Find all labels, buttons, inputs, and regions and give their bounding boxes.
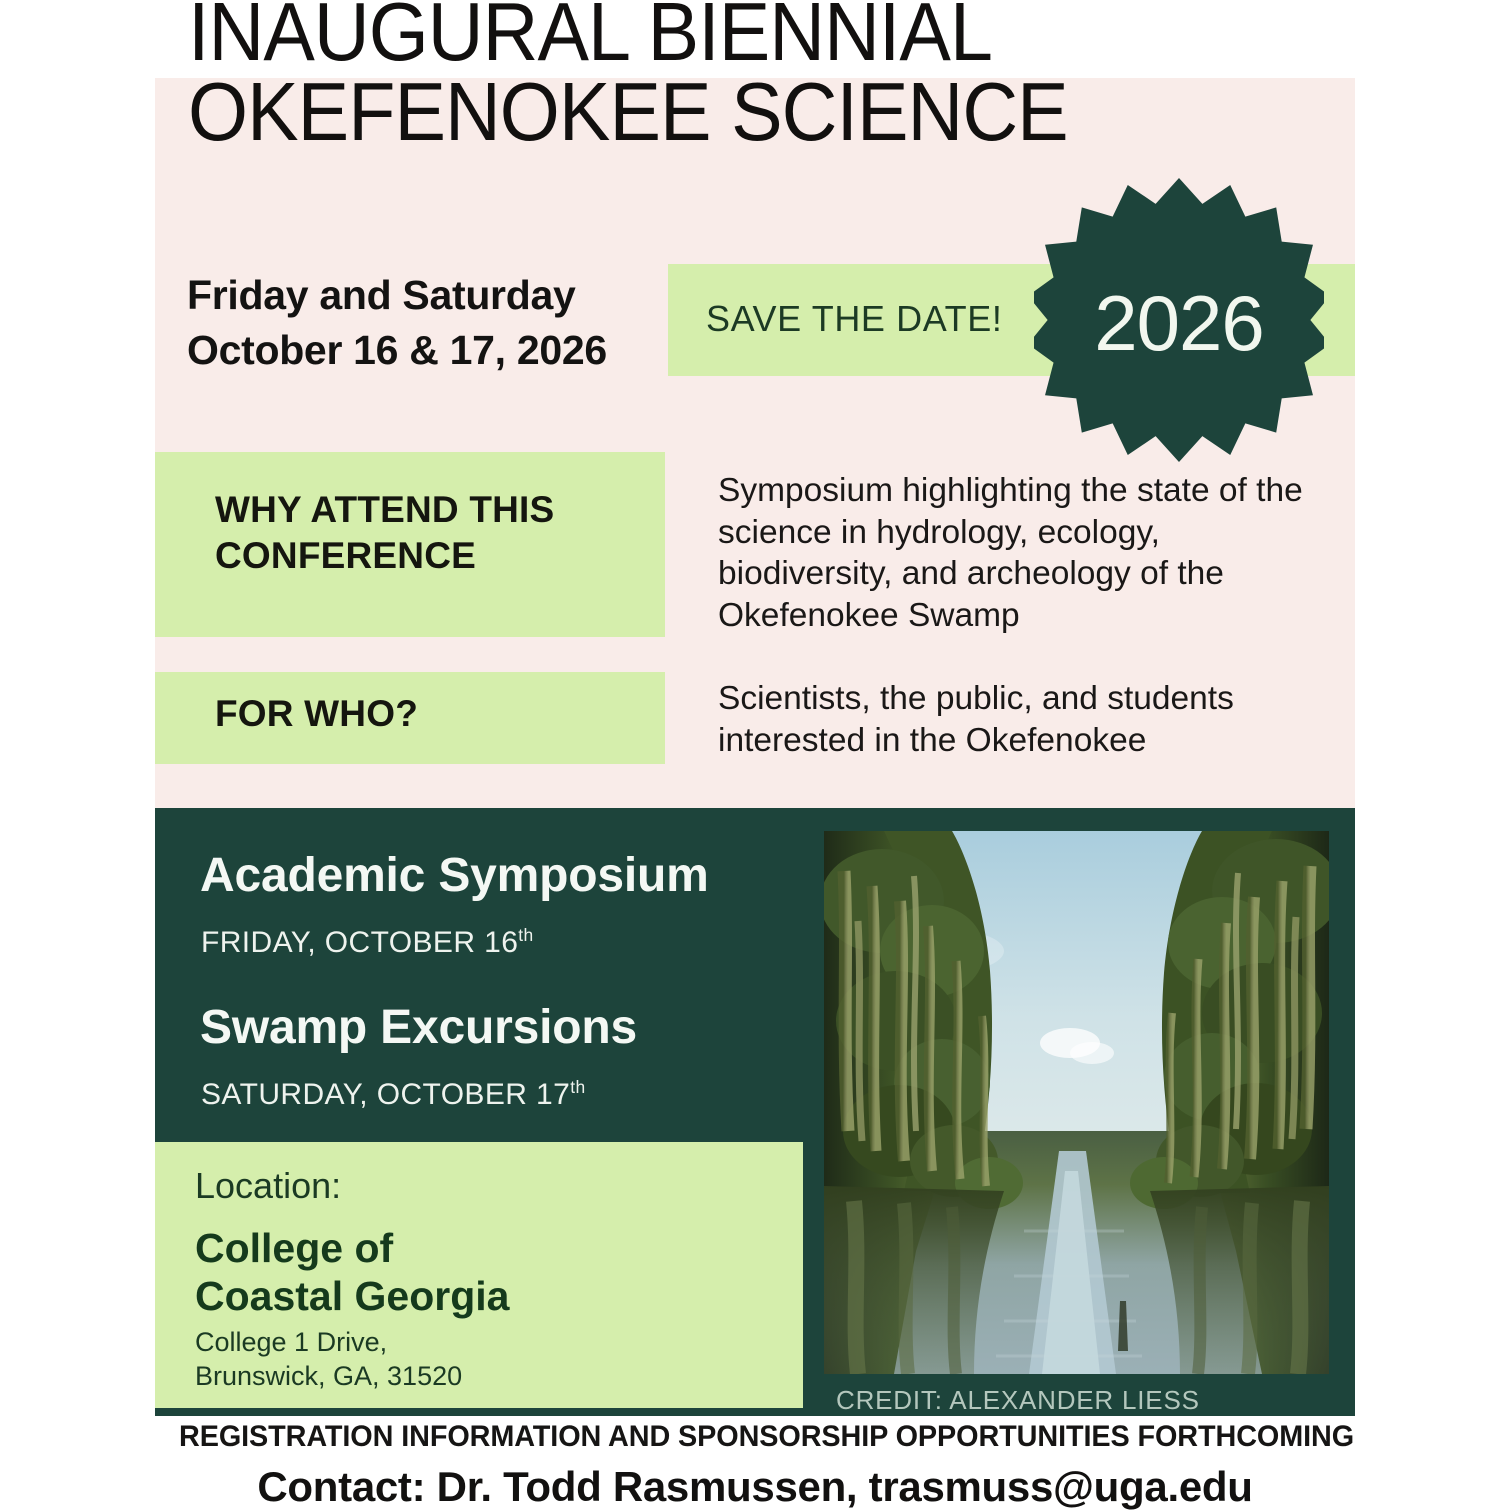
location-venue-line-1: College of [195,1225,509,1273]
footer-registration-note: REGISTRATION INFORMATION AND SPONSORSHIP… [179,1420,1331,1454]
location-venue-line-2: Coastal Georgia [195,1273,509,1321]
footer: REGISTRATION INFORMATION AND SPONSORSHIP… [155,1420,1355,1510]
save-the-date-label: SAVE THE DATE! [706,298,1002,340]
for-who-body: Scientists, the public, and students int… [718,678,1338,761]
swamp-photo [824,831,1329,1374]
why-attend-label-line-2: CONFERENCE [215,533,554,579]
why-attend-label: WHY ATTEND THIS CONFERENCE [215,487,554,579]
location-venue: College of Coastal Georgia [195,1225,509,1321]
footer-contact: Contact: Dr. Todd Rasmussen, trasmuss@ug… [155,1463,1355,1510]
location-label: Location: [195,1165,341,1207]
program-day-excursions-text: SATURDAY, OCTOBER 17 [201,1078,570,1111]
program-day-symposium-text: FRIDAY, OCTOBER 16 [201,926,518,959]
title-line-1: INAUGURAL BIENNIAL [188,0,1267,72]
why-attend-label-line-1: WHY ATTEND THIS [215,487,554,533]
program-heading-symposium: Academic Symposium [200,848,709,903]
location-address: College 1 Drive, Brunswick, GA, 31520 [195,1325,462,1394]
why-attend-body: Symposium highlighting the state of the … [718,470,1338,636]
event-date-line-1: Friday and Saturday [187,268,607,323]
program-day-symposium: FRIDAY, OCTOBER 16th [201,925,534,960]
year-starburst-badge: 2026 [1034,178,1324,462]
event-date: Friday and Saturday October 16 & 17, 202… [187,268,607,377]
program-day-excursions: SATURDAY, OCTOBER 17th [201,1077,586,1112]
program-day-symposium-ordinal: th [518,925,533,945]
year-badge-text: 2026 [1034,178,1324,462]
poster-root: INAUGURAL BIENNIAL OKEFENOKEE SCIENCE Fr… [0,0,1510,1510]
photo-credit: CREDIT: ALEXANDER LIESS [836,1385,1200,1416]
page-title: INAUGURAL BIENNIAL OKEFENOKEE SCIENCE [188,0,1348,151]
location-address-line-1: College 1 Drive, [195,1325,462,1359]
program-day-excursions-ordinal: th [570,1077,585,1097]
title-line-2: OKEFENOKEE SCIENCE [188,72,1267,152]
for-who-label: FOR WHO? [215,691,418,737]
event-date-line-2: October 16 & 17, 2026 [187,323,607,378]
location-address-line-2: Brunswick, GA, 31520 [195,1359,462,1393]
program-heading-excursions: Swamp Excursions [200,1000,637,1055]
